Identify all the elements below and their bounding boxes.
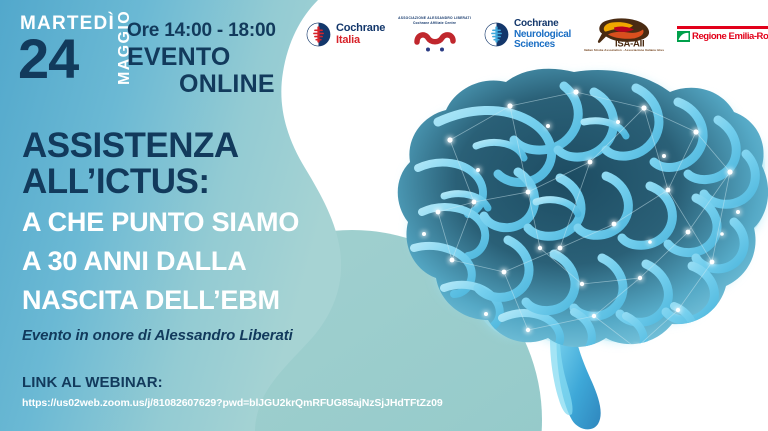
event-time-block: Ore 14:00 - 18:00 EVENTO ONLINE [127,20,276,98]
event-day-number: 24 [18,34,115,84]
rer-flag-icon [677,31,690,42]
logo-cochrane-italia-line1: Cochrane [336,23,385,34]
logo-cochrane-italia-line2: Italia [336,35,385,46]
isa-aii-brain-icon: ISA-AII [593,16,655,48]
webinar-url[interactable]: https://us02web.zoom.us/j/81082607629?pw… [22,396,443,411]
event-time: Ore 14:00 - 18:00 [127,20,276,42]
cochrane-emblem-icon [484,22,509,47]
partner-logo-strip: Cochrane Italia ASSOCIAZIONE ALESSANDRO … [306,16,768,52]
rer-red-bar [677,26,768,29]
headline-credit: Evento in onore di Alessandro Liberati [22,327,362,344]
poster-headline: ASSISTENZA ALL’ICTUS: A CHE PUNTO SIAMO … [22,128,362,344]
liberati-squiggle-icon [412,26,458,52]
event-mode-line2: ONLINE [127,71,276,98]
logo-isa-aii-subtitle: Italian Stroke Association · Associazion… [584,48,664,52]
event-poster: MARTEDÌ 24 MAGGIO Ore 14:00 - 18:00 EVEN… [0,0,768,431]
webinar-label: LINK AL WEBINAR: [22,374,443,392]
cochrane-emblem-icon [306,22,331,47]
logo-cochrane-neurological-sciences: Cochrane Neurological Sciences [484,19,571,50]
webinar-link-block: LINK AL WEBINAR: https://us02web.zoom.us… [22,374,443,411]
headline-main-line2: ALL’ICTUS: [22,164,362,200]
svg-text:ISA-AII: ISA-AII [615,39,644,49]
headline-sub-line1: A CHE PUNTO SIAMO [22,205,362,239]
event-mode-line1: EVENTO [127,44,276,71]
logo-associazione-alessandro-liberati: ASSOCIAZIONE ALESSANDRO LIBERATI Cochran… [398,16,471,52]
headline-sub-line2: A 30 ANNI DALLA [22,244,362,278]
logo-regione-emilia-romagna: Regione Emilia-Romagna [677,26,768,42]
logo-cochrane-italia: Cochrane Italia [306,22,385,47]
logo-liberati-line2: Cochrane Affiliate Centre [413,21,456,25]
headline-sub-line3: NASCITA DELL’EBM [22,283,362,317]
headline-main-line1: ASSISTENZA [22,128,362,164]
logo-cns-line2: Neurological Sciences [514,30,571,50]
logo-rer-name: Regione Emilia-Romagna [692,31,768,42]
logo-cns-line1: Cochrane [514,19,571,29]
logo-isa-aii: ISA-AII Italian Stroke Association · Ass… [584,16,664,52]
event-date-block: MARTEDÌ 24 MAGGIO [18,14,133,85]
logo-liberati-line1: ASSOCIAZIONE ALESSANDRO LIBERATI [398,16,471,20]
